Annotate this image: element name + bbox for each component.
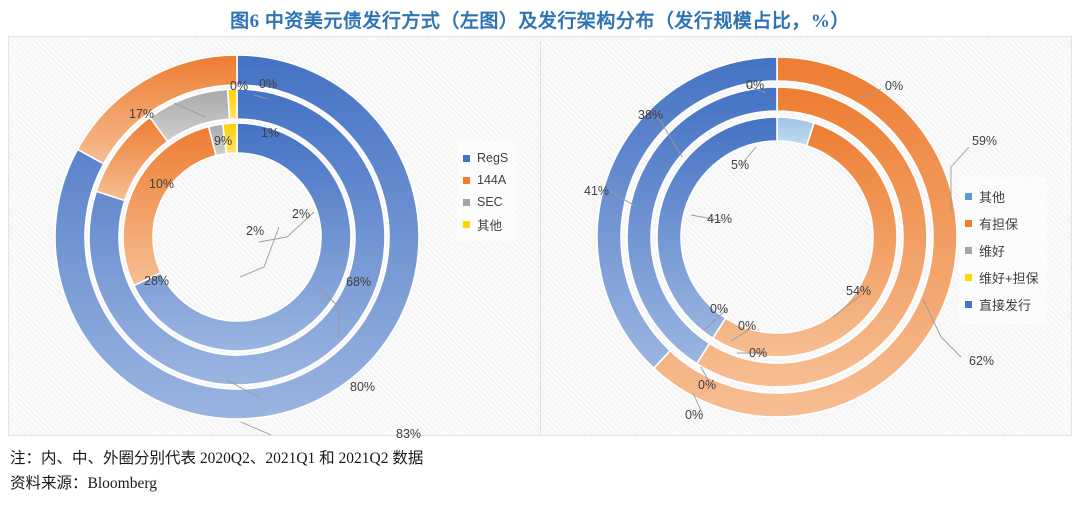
legend-label: SEC xyxy=(477,195,503,209)
arc-segment xyxy=(228,89,237,119)
legend-item-0[interactable]: 其他 xyxy=(965,183,1039,210)
label-zero-c: 0% xyxy=(749,346,767,360)
legend-item-2[interactable]: 维好 xyxy=(965,237,1039,264)
legend-label: 维好+担保 xyxy=(979,268,1039,287)
legend-swatch-icon xyxy=(965,193,972,200)
label-middle-sec: 9% xyxy=(214,134,232,148)
label-outer-144a: 17% xyxy=(129,107,154,121)
label-middle-regs: 80% xyxy=(350,380,375,394)
legend-swatch-icon xyxy=(463,155,470,162)
label-outer-other: 0% xyxy=(230,79,248,93)
label-outer-regs: 83% xyxy=(396,427,421,441)
legend-swatch-icon xyxy=(463,177,470,184)
legend-swatch-icon xyxy=(965,247,972,254)
legend-issuance-structure: 其他有担保维好维好+担保直接发行 xyxy=(959,177,1047,324)
legend-item-2[interactable]: SEC xyxy=(463,191,508,213)
label-outer-other: 0% xyxy=(746,78,764,92)
legend-label: 直接发行 xyxy=(979,295,1031,314)
label-middle-guaranteed: 59% xyxy=(972,134,997,148)
label-outer-direct: 38% xyxy=(638,108,663,122)
footer-source: 资料来源：Bloomberg xyxy=(10,471,1070,496)
label-inner-guaranteed: 54% xyxy=(846,284,871,298)
label-zero-e: 0% xyxy=(685,408,703,422)
legend-item-0[interactable]: RegS xyxy=(463,147,508,169)
label-outer-guarantee-zero: 0% xyxy=(885,79,903,93)
legend-swatch-icon xyxy=(965,220,972,227)
legend-issuance-method: RegS144ASEC其他 xyxy=(457,141,516,241)
label-middle-144a: 10% xyxy=(149,177,174,191)
legend-item-3[interactable]: 维好+担保 xyxy=(965,264,1039,291)
legend-item-3[interactable]: 其他 xyxy=(463,213,508,235)
label-inner-144a: 28% xyxy=(144,274,169,288)
label-zero-b: 0% xyxy=(738,319,756,333)
label-zero-d: 0% xyxy=(698,378,716,392)
label-outer-guaranteed: 62% xyxy=(969,354,994,368)
legend-label: 144A xyxy=(477,173,506,187)
leader-line xyxy=(241,422,271,435)
legend-label: 其他 xyxy=(477,215,502,234)
label-middle-other: 1% xyxy=(261,126,279,140)
chart-frame: 0%0%17%83%9%1%10%80%2%2%28%68% 0%0%38%62… xyxy=(8,36,1072,436)
label-inner-regs: 68% xyxy=(346,275,371,289)
label-outer-sec: 0% xyxy=(259,77,277,91)
label-inner-other: 2% xyxy=(292,207,310,221)
label-zero-a: 0% xyxy=(710,302,728,316)
label-inner-other: 5% xyxy=(731,158,749,172)
legend-swatch-icon xyxy=(965,274,972,281)
label-inner-sec: 2% xyxy=(246,224,264,238)
legend-label: 有担保 xyxy=(979,214,1018,233)
legend-item-1[interactable]: 144A xyxy=(463,169,508,191)
legend-item-4[interactable]: 直接发行 xyxy=(965,291,1039,318)
footer-note: 注：内、中、外圈分别代表 2020Q2、2021Q1 和 2021Q2 数据 xyxy=(10,446,1070,471)
legend-item-1[interactable]: 有担保 xyxy=(965,210,1039,237)
legend-swatch-icon xyxy=(463,221,470,228)
footer-notes: 注：内、中、外圈分别代表 2020Q2、2021Q1 和 2021Q2 数据 资… xyxy=(10,446,1070,496)
legend-label: 其他 xyxy=(979,187,1005,206)
label-inner-direct: 41% xyxy=(707,212,732,226)
legend-swatch-icon xyxy=(463,199,470,206)
legend-label: 维好 xyxy=(979,241,1005,260)
legend-label: RegS xyxy=(477,151,508,165)
page-title: 图6 中资美元债发行方式（左图）及发行架构分布（发行规模占比，%） xyxy=(0,6,1080,33)
label-middle-direct: 41% xyxy=(584,184,609,198)
legend-swatch-icon xyxy=(965,301,972,308)
